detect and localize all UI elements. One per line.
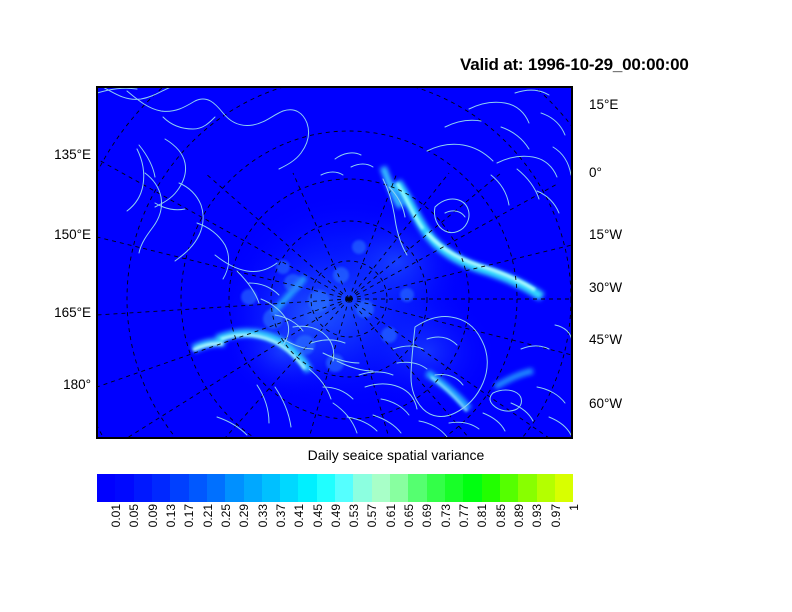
- colorbar-tick-21: 0.85: [495, 504, 507, 527]
- map-svg: [97, 87, 572, 438]
- colorbar-cell-16: [390, 474, 408, 502]
- colorbar-cell-2: [134, 474, 152, 502]
- axis-label-left-0: 135°E: [36, 148, 91, 162]
- colorbar-tick-8: 0.33: [257, 504, 269, 527]
- colorbar-cell-11: [298, 474, 316, 502]
- colorbar-caption: Daily seaice spatial variance: [0, 447, 792, 463]
- colorbar-tick-20: 0.81: [476, 504, 488, 527]
- colorbar-cell-22: [500, 474, 518, 502]
- colorbar-cell-4: [170, 474, 188, 502]
- colorbar-cell-14: [353, 474, 371, 502]
- axis-label-right-4: 45°W: [589, 333, 622, 347]
- axis-label-right-2: 15°W: [589, 228, 622, 242]
- colorbar-tick-7: 0.29: [238, 504, 250, 527]
- colorbar-tick-15: 0.61: [385, 504, 397, 527]
- colorbar-cell-12: [317, 474, 335, 502]
- colorbar-tick-5: 0.21: [202, 504, 214, 527]
- colorbar-tick-17: 0.69: [421, 504, 433, 527]
- axis-label-right-0: 15°E: [589, 98, 618, 112]
- axis-label-left-2: 165°E: [36, 306, 91, 320]
- colorbar-tick-24: 0.97: [550, 504, 562, 527]
- colorbar-cell-3: [152, 474, 170, 502]
- colorbar-tick-16: 0.65: [403, 504, 415, 527]
- colorbar-cell-13: [335, 474, 353, 502]
- colorbar-cell-5: [189, 474, 207, 502]
- colorbar-caption-text: Daily seaice spatial variance: [308, 447, 485, 463]
- colorbar-tick-2: 0.09: [147, 504, 159, 527]
- colorbar-cell-23: [518, 474, 536, 502]
- colorbar-tick-labels: 0.010.050.090.130.170.210.250.290.330.37…: [97, 504, 573, 574]
- axis-label-right-3: 30°W: [589, 281, 622, 295]
- colorbar-tick-3: 0.13: [165, 504, 177, 527]
- colorbar-tick-22: 0.89: [513, 504, 525, 527]
- colorbar-cell-18: [427, 474, 445, 502]
- colorbar-cell-24: [537, 474, 555, 502]
- page-title: Valid at: 1996-10-29_00:00:00: [460, 55, 689, 75]
- colorbar[interactable]: 0.010.050.090.130.170.210.250.290.330.37…: [97, 474, 573, 502]
- colorbar-cell-6: [207, 474, 225, 502]
- axis-label-left-3: 180°: [36, 378, 91, 392]
- colorbar-cell-20: [463, 474, 481, 502]
- colorbar-cell-17: [408, 474, 426, 502]
- colorbar-cell-25: [555, 474, 573, 502]
- colorbar-tick-4: 0.17: [183, 504, 195, 527]
- colorbar-cell-15: [372, 474, 390, 502]
- colorbar-tick-14: 0.57: [366, 504, 378, 527]
- axis-label-right-1: 0°: [589, 166, 602, 180]
- colorbar-cell-8: [244, 474, 262, 502]
- colorbar-tick-10: 0.41: [293, 504, 305, 527]
- colorbar-tick-25: 1: [568, 504, 580, 511]
- colorbar-cell-21: [482, 474, 500, 502]
- colorbar-tick-18: 0.73: [440, 504, 452, 527]
- colorbar-cell-1: [115, 474, 133, 502]
- colorbar-cell-7: [225, 474, 243, 502]
- colorbar-tick-0: 0.01: [110, 504, 122, 527]
- colorbar-tick-11: 0.45: [312, 504, 324, 527]
- colorbar-cell-0: [97, 474, 115, 502]
- colorbar-cell-10: [280, 474, 298, 502]
- colorbar-tick-12: 0.49: [330, 504, 342, 527]
- map-panel[interactable]: [96, 86, 573, 439]
- colorbar-gradient[interactable]: [97, 474, 573, 502]
- figure-canvas: Valid at: 1996-10-29_00:00:00: [0, 0, 792, 612]
- colorbar-cell-19: [445, 474, 463, 502]
- colorbar-tick-6: 0.25: [220, 504, 232, 527]
- colorbar-cell-9: [262, 474, 280, 502]
- axis-label-right-5: 60°W: [589, 397, 622, 411]
- colorbar-tick-13: 0.53: [348, 504, 360, 527]
- colorbar-tick-9: 0.37: [275, 504, 287, 527]
- colorbar-tick-1: 0.05: [128, 504, 140, 527]
- colorbar-tick-19: 0.77: [458, 504, 470, 527]
- axis-label-left-1: 150°E: [36, 228, 91, 242]
- colorbar-tick-23: 0.93: [531, 504, 543, 527]
